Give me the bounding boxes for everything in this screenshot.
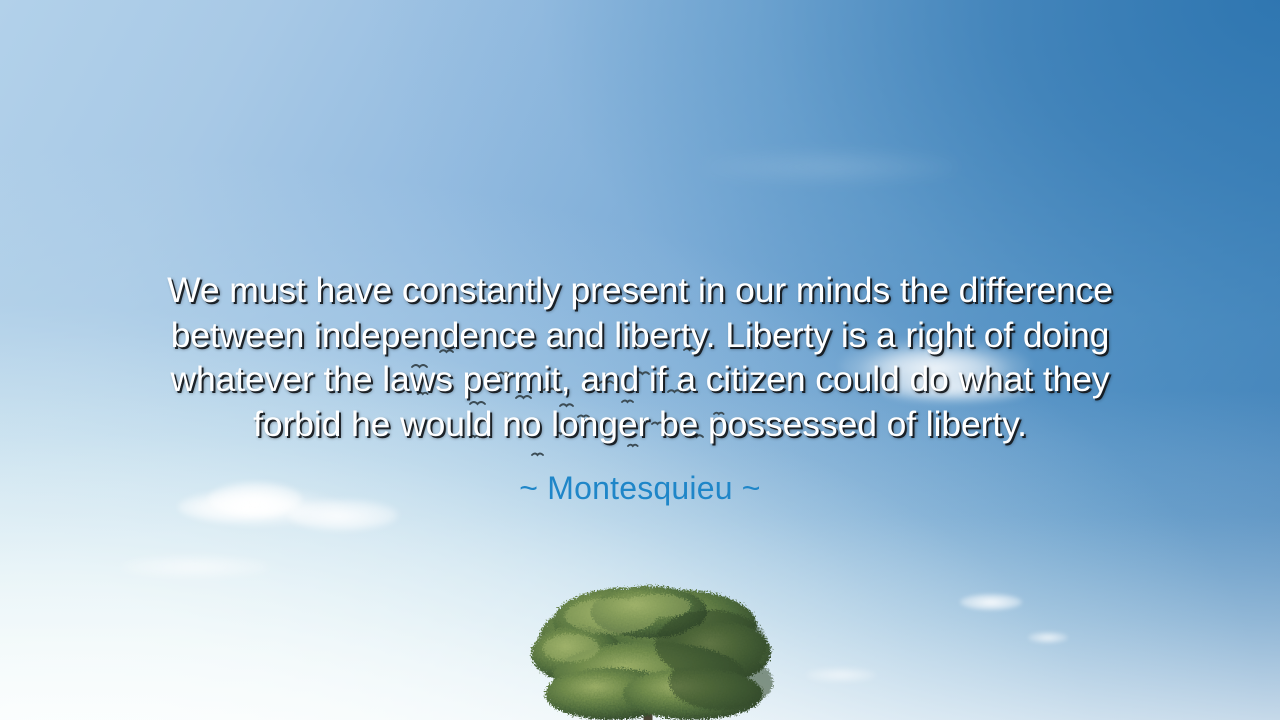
quote-text: We must have constantly present in our m… [123,268,1157,446]
quote-image-canvas: We must have constantly present in our m… [0,0,1280,720]
quote-line: whatever the laws permit, and if a citiz… [123,357,1157,402]
quote-attribution: ~ Montesquieu ~ [0,468,1280,508]
tree-icon [515,578,785,720]
quote-line: between independence and liberty. Libert… [123,313,1157,358]
quote-line: forbid he would no longer be possessed o… [123,402,1157,447]
quote-line: We must have constantly present in our m… [123,268,1157,313]
